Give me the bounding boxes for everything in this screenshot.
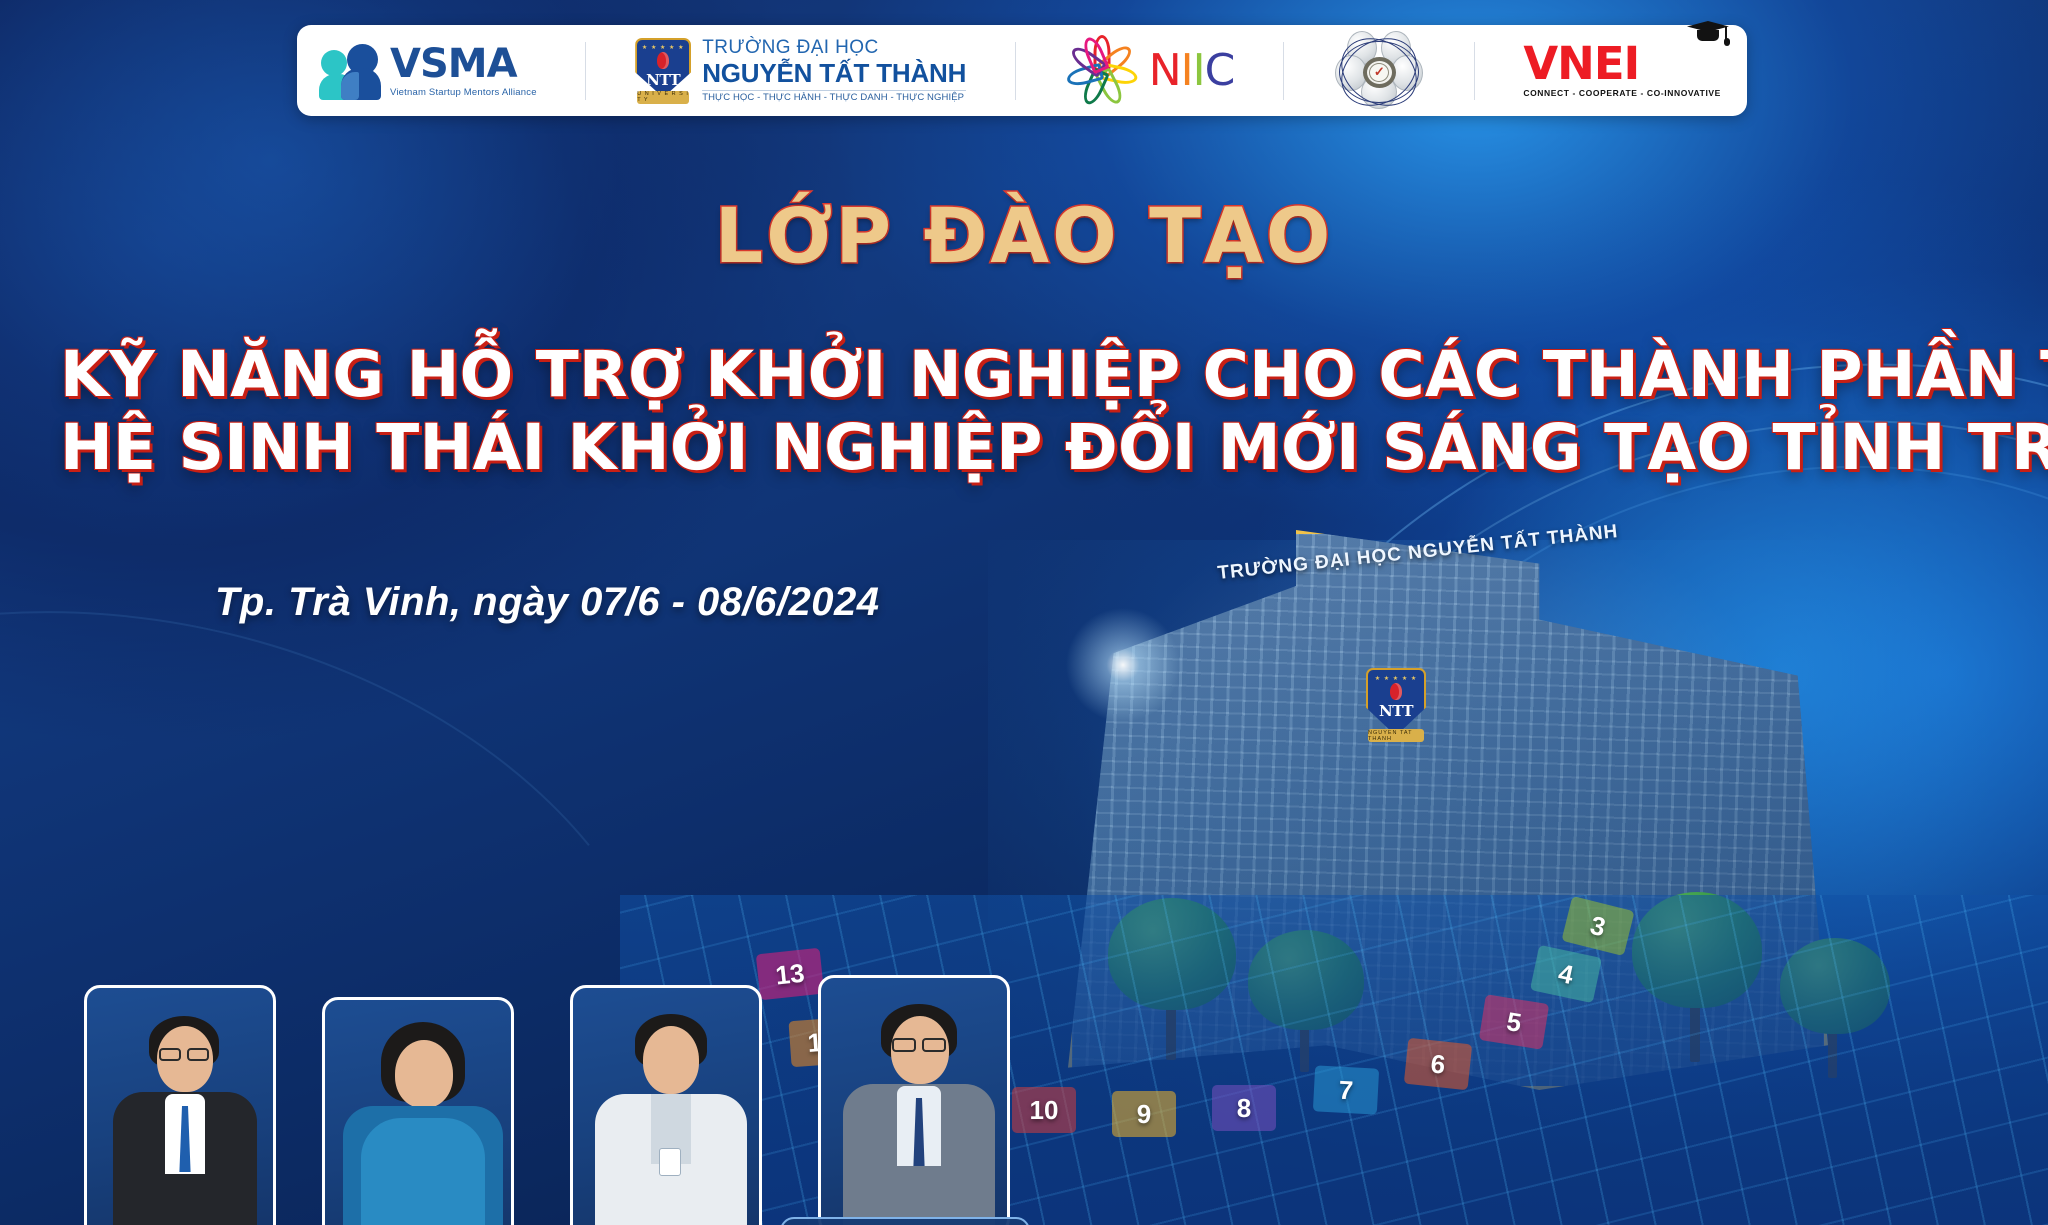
- headline-line-2: HỆ SINH THÁI KHỞI NGHIỆP ĐỔI MỚI SÁNG TẠ…: [60, 411, 1988, 484]
- poster-headline: KỸ NĂNG HỖ TRỢ KHỞI NGHIỆP CHO CÁC THÀNH…: [60, 338, 1988, 484]
- shield-ribbon: U N I V E R S I T Y: [637, 91, 689, 104]
- vsma-wordmark: VSMA: [390, 44, 537, 84]
- ntt-line-2: NGUYỄN TẤT THÀNH: [702, 59, 966, 87]
- plaza-number: 5: [1479, 994, 1549, 1049]
- ntt-rule: [702, 90, 966, 91]
- speaker-portrait-frame: [570, 985, 762, 1225]
- shield-monogram: NTT: [646, 71, 680, 89]
- ntt-line-1: TRƯỜNG ĐẠI HỌC: [702, 38, 966, 59]
- plaza-number: 9: [1112, 1091, 1176, 1137]
- plaza-number: 7: [1313, 1065, 1379, 1114]
- vsma-tagline: Vietnam Startup Mentors Alliance: [390, 88, 537, 98]
- shield-crest-icon: ★ ★ ★ ★ ★ NTT U N I V E R S I T Y: [635, 38, 691, 104]
- logo-divider-3: [1283, 42, 1284, 100]
- logo-divider-2: [1015, 42, 1016, 100]
- speaker-portrait-frame: [84, 985, 276, 1225]
- vnei-wordmark: VNEI: [1523, 43, 1721, 86]
- speaker-portrait: [821, 978, 1007, 1225]
- speaker-caption: TS. Nguyễn Văn Tân Trưởng Khoa Kinh tế q…: [780, 1217, 1030, 1225]
- plaza-number: 8: [1212, 1085, 1276, 1131]
- logo-divider-1: [585, 42, 586, 100]
- headline-line-1: KỸ NĂNG HỖ TRỢ KHỞI NGHIỆP CHO CÁC THÀNH…: [60, 338, 2048, 411]
- building-crest-icon: ★ ★ ★ ★ ★ NTT NGUYEN TAT THANH: [1366, 668, 1430, 746]
- logo-nguyen-tat-thanh: ★ ★ ★ ★ ★ NTT U N I V E R S I T Y TRƯỜNG…: [635, 25, 966, 116]
- speaker-portrait-frame: [322, 997, 514, 1225]
- logo-niic: NIIC: [1065, 25, 1235, 116]
- atom-emblem-icon: ✓: [1333, 31, 1425, 111]
- speaker-portrait: [573, 988, 759, 1225]
- graduation-cap-icon: [1687, 19, 1729, 45]
- speaker-list: TS. Hoàng Thịnh Nhân Phó giám đốc trung …: [36, 817, 1046, 1217]
- logo-atom-emblem: ✓: [1333, 25, 1425, 116]
- logo-divider-4: [1474, 42, 1475, 100]
- niic-wordmark: NIIC: [1149, 49, 1235, 93]
- plaza-number: 6: [1404, 1038, 1472, 1090]
- speaker-portrait: [87, 988, 273, 1225]
- poster-subtitle: Tp. Trà Vinh, ngày 07/6 - 08/6/2024: [215, 580, 879, 625]
- pinwheel-flower-icon: [1065, 34, 1139, 108]
- speaker-portrait: [325, 1000, 511, 1225]
- poster-kicker: LỚP ĐÀO TẠO: [0, 198, 2048, 274]
- two-people-icon: [319, 42, 381, 100]
- training-course-poster: VSMA Vietnam Startup Mentors Alliance ★ …: [0, 0, 2048, 1225]
- speaker-portrait-frame: [818, 975, 1010, 1225]
- vnei-tagline: CONNECT - COOPERATE - CO-INNOVATIVE: [1523, 88, 1721, 98]
- logo-vnei: VNEI CONNECT - COOPERATE - CO-INNOVATIVE: [1523, 25, 1725, 116]
- partner-logo-bar: VSMA Vietnam Startup Mentors Alliance ★ …: [297, 25, 1747, 116]
- sun-flare: [1058, 600, 1188, 730]
- ntt-slogan: THỰC HỌC - THỰC HÀNH - THỰC DANH - THỰC …: [702, 93, 966, 103]
- logo-vsma: VSMA Vietnam Startup Mentors Alliance: [319, 25, 537, 116]
